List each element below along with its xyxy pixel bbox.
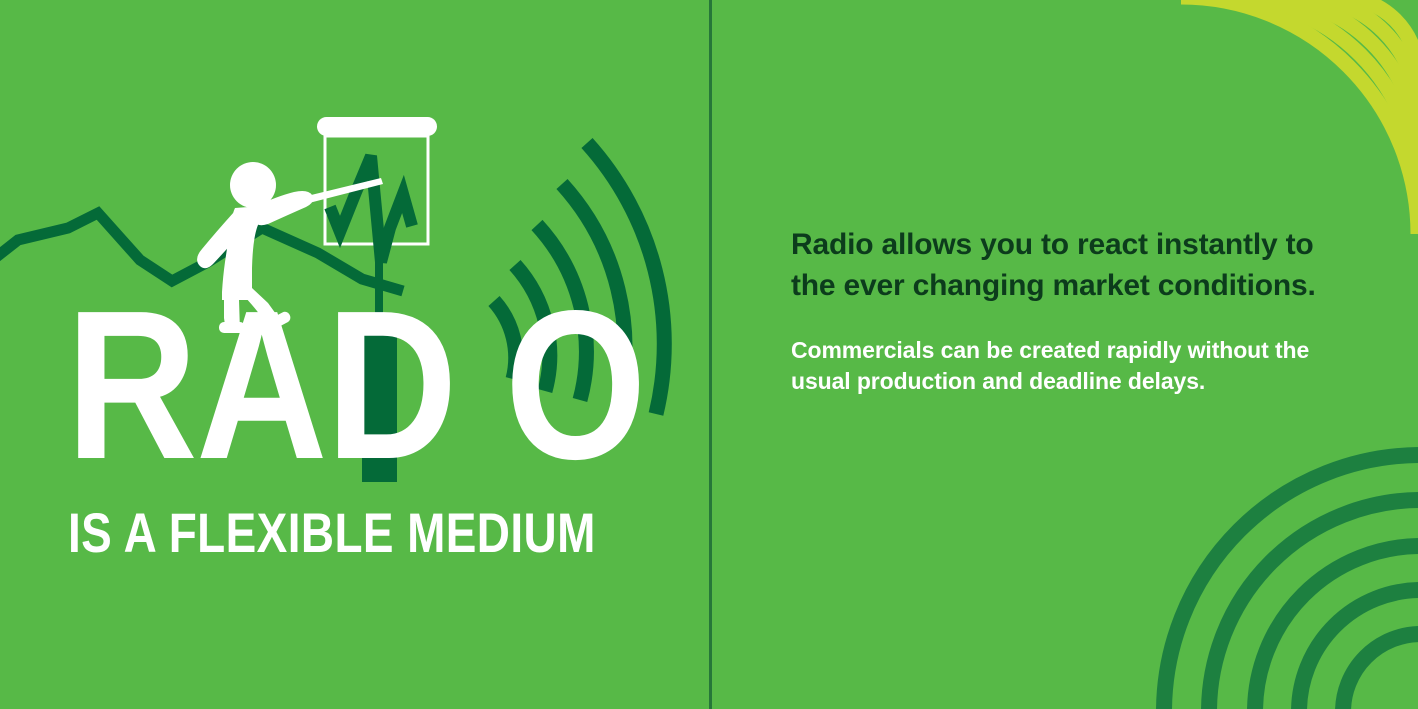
brand-word-radio: RADIO	[66, 300, 582, 470]
brand-word-prefix: RAD	[66, 266, 456, 503]
brand-word-mic-letter: I	[456, 266, 505, 503]
panel-divider	[709, 0, 712, 709]
infographic-poster: RADIO IS A FLEXIBLE MEDIUM Radio allows …	[0, 0, 1418, 709]
copy-body: Commercials can be created rapidly witho…	[791, 335, 1331, 397]
chart-zigzag-line	[330, 156, 412, 262]
flipchart-board-icon	[317, 117, 437, 262]
copy-headline: Radio allows you to react instantly to t…	[791, 224, 1331, 307]
copy-block: Radio allows you to react instantly to t…	[791, 224, 1331, 397]
brand-lockup: RADIO IS A FLEXIBLE MEDIUM	[66, 300, 666, 470]
brand-tagline: IS A FLEXIBLE MEDIUM	[68, 505, 596, 561]
radio-waves-top-right	[1181, 0, 1418, 234]
radio-waves-bottom-right	[1164, 455, 1418, 709]
brand-word-suffix: O	[505, 266, 645, 503]
